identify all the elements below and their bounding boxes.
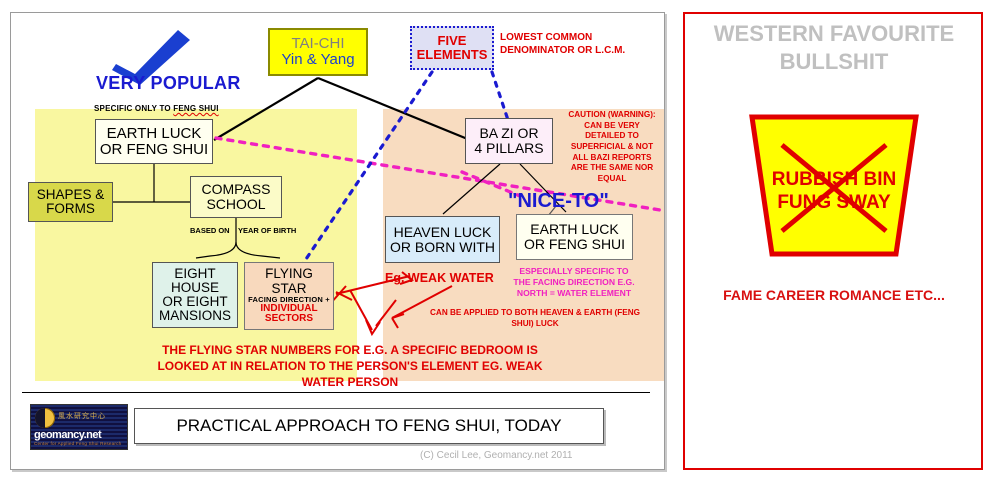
eight-house-line2: HOUSE [171,281,219,295]
shapes-forms-line1: SHAPES & [37,188,105,202]
copyright-label: (C) Cecil Lee, Geomancy.net 2011 [420,450,572,461]
earth-luck-2-line2: OR FENG SHUI [524,237,625,252]
earth-luck-feng-shui-box-2: EARTH LUCK OR FENG SHUI [516,214,633,260]
eight-house-line3: OR EIGHT [162,295,227,309]
geomancy-logo: 風水研究中心 geomancy.net Center for Applied F… [30,404,128,450]
logo-chinese-text: 風水研究中心 [58,411,106,421]
eight-house-line4: MANSIONS [159,309,231,323]
heaven-luck-line1: HEAVEN LUCK [394,225,492,240]
earth-luck-1-line1: EARTH LUCK [107,126,202,142]
based-on-label: BASED ON [190,226,230,235]
bazi-four-pillars-box: BA ZI OR 4 PILLARS [465,118,553,164]
bazi-line1: BA ZI OR [479,126,538,141]
nice-to-label: "NICE-TO" [508,190,609,213]
flying-star-sectors: SECTORS [265,314,313,325]
flying-star-box: FLYING STAR FACING DIRECTION + INDIVIDUA… [244,262,334,330]
western-favourite-title: WESTERN FAVOURITE BULLSHIT [703,20,965,75]
especially-specific-note: ESPECIALLY SPECIFIC TO THE FACING DIRECT… [512,266,636,300]
year-of-birth-label: YEAR OF BIRTH [238,226,296,235]
logo-tagline: Center for Applied Feng Shui Research [34,441,121,446]
logo-brand-text: geomancy.net [34,429,101,441]
rubbish-bin-graphic: RUBBISH BIN FUNG SWAY [728,113,940,258]
diagram-canvas: VERY POPULAR TAI-CHI Yin & Yang FIVE ELE… [0,0,994,482]
shapes-and-forms-box: SHAPES & FORMS [28,182,113,222]
eight-house-mansions-box: EIGHT HOUSE OR EIGHT MANSIONS [152,262,238,328]
earth-luck-feng-shui-box: EARTH LUCK OR FENG SHUI [95,119,213,164]
five-elements-line2: ELEMENTS [417,48,488,62]
flying-star-line1: FLYING [265,267,313,281]
flying-star-bottom-note: THE FLYING STAR NUMBERS FOR E.G. A SPECI… [140,342,560,391]
specific-only-prefix: SPECIFIC ONLY TO [94,104,173,113]
tai-chi-line2: Yin & Yang [281,52,354,68]
bin-line1-text: RUBBISH BIN [772,169,897,190]
heaven-luck-box: HEAVEN LUCK OR BORN WITH [385,216,500,263]
five-elements-line1: FIVE [438,34,467,48]
earth-luck-2-line1: EARTH LUCK [530,222,618,237]
bazi-caution-note: CAUTION (WARNING): CAN BE VERY DETAILED … [565,110,659,185]
bin-line2-text: FUNG SWAY [777,192,891,213]
specific-only-term: FENG SHUI [173,104,218,113]
compass-school-line1: COMPASS [202,182,271,197]
fame-career-romance-list: FAME CAREER ROMANCE ETC... [703,285,965,305]
compass-school-line2: SCHOOL [206,197,265,212]
eight-house-line1: EIGHT [174,267,215,281]
footer-divider [22,392,650,393]
heaven-luck-line2: OR BORN WITH [390,240,495,255]
shapes-forms-line2: FORMS [46,202,95,216]
yin-yang-icon [35,408,55,428]
tai-chi-line1: TAI-CHI [291,36,344,52]
lowest-common-denominator-note: LOWEST COMMON DENOMINATOR OR L.C.M. [500,32,650,57]
tai-chi-box: TAI-CHI Yin & Yang [268,28,368,76]
earth-luck-1-line2: OR FENG SHUI [100,142,208,158]
specific-only-label: SPECIFIC ONLY TO FENG SHUI [94,104,219,113]
flying-star-line2: STAR [271,282,306,296]
weak-water-label: Eg. WEAK WATER [385,271,494,285]
bazi-line2: 4 PILLARS [474,141,543,156]
five-elements-box: FIVE ELEMENTS [410,26,494,70]
very-popular-label: VERY POPULAR [96,73,241,94]
practical-approach-banner: PRACTICAL APPROACH TO FENG SHUI, TODAY [134,408,604,444]
applied-both-note: CAN BE APPLIED TO BOTH HEAVEN & EARTH (F… [430,307,640,329]
compass-school-box: COMPASS SCHOOL [190,176,282,218]
